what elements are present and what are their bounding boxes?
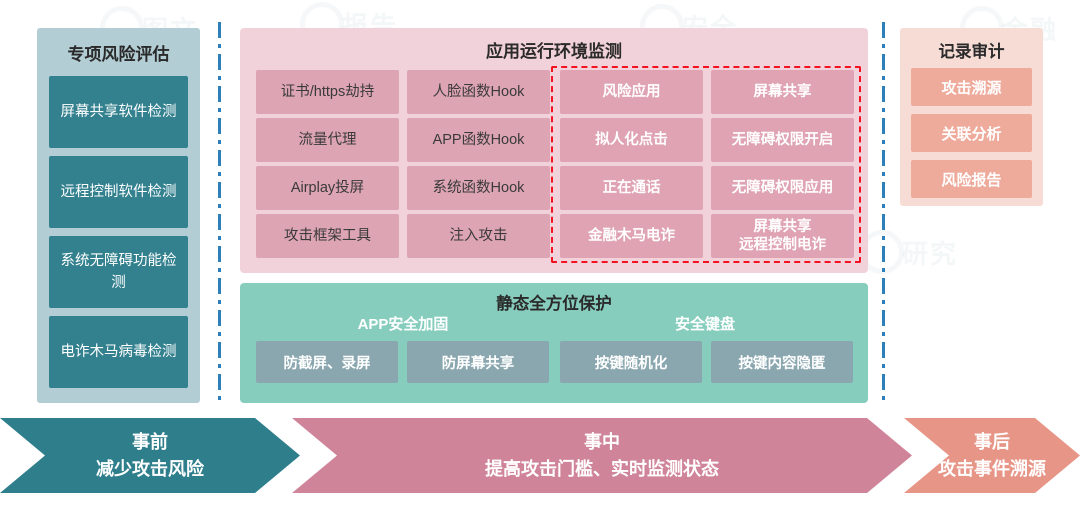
left-item-1-label: 远程控制软件检测	[61, 181, 177, 203]
green-g0-item-0[interactable]: 防截屏、录屏	[256, 341, 398, 383]
center-c3-item-0[interactable]: 屏幕共享	[711, 70, 854, 114]
center-c2-item-3-label: 金融木马电诈	[588, 227, 675, 246]
center-c1-item-0[interactable]: 人脸函数Hook	[407, 70, 550, 114]
center-c0-item-1[interactable]: 流量代理	[256, 118, 399, 162]
center-c3-item-3-label: 屏幕共享 远程控制电诈	[739, 218, 826, 254]
green-group-1-label: 安全键盘	[558, 313, 852, 334]
separator-left	[218, 22, 221, 410]
timeline-stage-before[interactable]: 事前 减少攻击风险	[0, 418, 300, 493]
timeline-stage-during[interactable]: 事中 提高攻击门槛、实时监测状态	[292, 418, 912, 493]
center-c0-item-3[interactable]: 攻击框架工具	[256, 214, 399, 258]
panel-runtime-environment-monitoring: 应用运行环境监测 证书/https劫持 流量代理 Airplay投屏 攻击框架工…	[240, 28, 868, 273]
timeline-stage-during-title: 事中	[584, 429, 620, 455]
green-g0-item-1[interactable]: 防屏幕共享	[407, 341, 549, 383]
center-c1-item-3[interactable]: 注入攻击	[407, 214, 550, 258]
right-item-1[interactable]: 关联分析	[911, 114, 1032, 152]
center-c0-item-0[interactable]: 证书/https劫持	[256, 70, 399, 114]
left-panel-title: 专项风险评估	[37, 40, 200, 65]
center-c1-item-0-label: 人脸函数Hook	[433, 83, 525, 102]
green-group-0-label: APP安全加固	[256, 313, 550, 334]
green-panel-title: 静态全方位保护	[240, 290, 868, 314]
green-g0-item-1-label: 防屏幕共享	[442, 352, 515, 373]
green-g1-item-1[interactable]: 按键内容隐匿	[711, 341, 853, 383]
green-g1-item-0-label: 按键随机化	[595, 352, 668, 373]
right-item-2-label: 风险报告	[941, 169, 1001, 190]
center-c0-item-3-label: 攻击框架工具	[284, 227, 371, 246]
center-c1-item-3-label: 注入攻击	[450, 227, 508, 246]
center-c2-item-1-label: 拟人化点击	[595, 131, 668, 150]
green-g1-item-1-label: 按键内容隐匿	[739, 352, 826, 373]
center-panel-title: 应用运行环境监测	[240, 37, 868, 62]
center-c3-item-0-label: 屏幕共享	[754, 83, 812, 102]
center-c2-item-2-label: 正在通话	[603, 179, 661, 198]
panel-special-risk-assessment: 专项风险评估 屏幕共享软件检测 远程控制软件检测 系统无障碍功能检测 电诈木马病…	[37, 28, 200, 403]
center-c0-item-2-label: Airplay投屏	[291, 179, 364, 198]
left-item-3-label: 电诈木马病毒检测	[61, 341, 177, 363]
right-panel-title: 记录审计	[900, 38, 1043, 62]
center-c3-item-2-label: 无障碍权限应用	[732, 179, 834, 198]
left-item-0-label: 屏幕共享软件检测	[61, 101, 177, 123]
timeline-stage-before-desc: 减少攻击风险	[96, 455, 204, 483]
separator-right	[882, 22, 885, 410]
center-c2-item-2[interactable]: 正在通话	[560, 166, 703, 210]
center-c3-item-2[interactable]: 无障碍权限应用	[711, 166, 854, 210]
green-g1-item-0[interactable]: 按键随机化	[560, 341, 702, 383]
timeline-stage-after-title: 事后	[974, 429, 1010, 455]
center-c1-item-2[interactable]: 系统函数Hook	[407, 166, 550, 210]
panel-record-audit: 记录审计 攻击溯源 关联分析 风险报告	[900, 28, 1043, 206]
center-c1-item-1[interactable]: APP函数Hook	[407, 118, 550, 162]
panel-static-protection: 静态全方位保护 APP安全加固 安全键盘 防截屏、录屏 防屏幕共享 按键随机化 …	[240, 283, 868, 403]
timeline-band: 事前 减少攻击风险 事中 提高攻击门槛、实时监测状态 事后 攻击事件溯源	[0, 418, 1080, 493]
timeline-stage-before-title: 事前	[132, 429, 168, 455]
center-c0-item-2[interactable]: Airplay投屏	[256, 166, 399, 210]
center-c3-item-3[interactable]: 屏幕共享 远程控制电诈	[711, 214, 854, 258]
center-c2-item-0[interactable]: 风险应用	[560, 70, 703, 114]
right-item-1-label: 关联分析	[941, 123, 1001, 144]
left-item-3[interactable]: 电诈木马病毒检测	[49, 316, 188, 388]
center-c3-item-1[interactable]: 无障碍权限开启	[711, 118, 854, 162]
timeline-stage-after[interactable]: 事后 攻击事件溯源	[904, 418, 1080, 493]
center-c2-item-0-label: 风险应用	[603, 83, 661, 102]
right-item-0-label: 攻击溯源	[941, 77, 1001, 98]
diagram-canvas: 图文 报告 安全 金融 网络 防护 研究 报告 专项风险评估 屏幕共享软件检测 …	[0, 0, 1080, 510]
right-item-2[interactable]: 风险报告	[911, 160, 1032, 198]
center-c2-item-1[interactable]: 拟人化点击	[560, 118, 703, 162]
left-item-1[interactable]: 远程控制软件检测	[49, 156, 188, 228]
center-c1-item-2-label: 系统函数Hook	[433, 179, 525, 198]
center-c2-item-3[interactable]: 金融木马电诈	[560, 214, 703, 258]
center-c3-item-1-label: 无障碍权限开启	[732, 131, 834, 150]
timeline-stage-after-desc: 攻击事件溯源	[938, 455, 1046, 483]
center-c0-item-0-label: 证书/https劫持	[281, 83, 374, 102]
green-g0-item-0-label: 防截屏、录屏	[284, 352, 371, 373]
left-item-0[interactable]: 屏幕共享软件检测	[49, 76, 188, 148]
left-item-2[interactable]: 系统无障碍功能检测	[49, 236, 188, 308]
timeline-stage-during-desc: 提高攻击门槛、实时监测状态	[485, 455, 719, 483]
right-item-0[interactable]: 攻击溯源	[911, 68, 1032, 106]
center-c0-item-1-label: 流量代理	[299, 131, 357, 150]
left-item-2-label: 系统无障碍功能检测	[55, 250, 182, 294]
center-c1-item-1-label: APP函数Hook	[433, 131, 525, 150]
